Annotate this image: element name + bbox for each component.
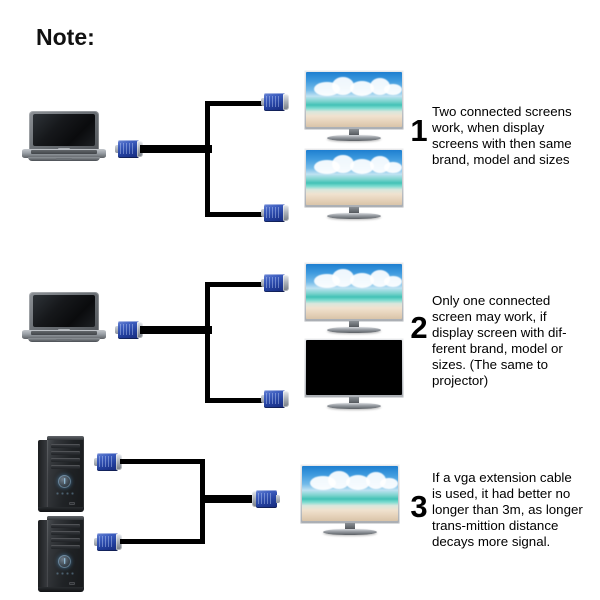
- monitor-icon: [304, 262, 404, 334]
- note-number: 2: [406, 312, 432, 343]
- tower-drive-bay: [51, 538, 80, 542]
- vga-shield: [283, 275, 289, 291]
- vga-connector-icon: [94, 453, 122, 471]
- tower-drive-bay: [51, 458, 80, 462]
- laptop-keyboard: [31, 150, 97, 154]
- cable-icon: [205, 101, 265, 106]
- cable-icon: [140, 326, 212, 334]
- tower-drive-bay: [51, 524, 80, 528]
- vga-connector-icon: [94, 533, 122, 551]
- note-block-1: 1 Two connected screens work, when displ…: [406, 104, 584, 168]
- tower-indicator: [69, 582, 75, 585]
- tower-drive-bay: [51, 465, 80, 469]
- cable-icon: [205, 101, 210, 217]
- cable-icon: [205, 398, 265, 403]
- monitor-screen: [306, 264, 402, 319]
- tower-base: [38, 507, 84, 512]
- tower-drive-bay: [51, 531, 80, 535]
- vga-body: [118, 321, 139, 339]
- vga-body: [264, 390, 285, 408]
- vga-body: [264, 274, 285, 292]
- laptop-screen: [33, 114, 95, 146]
- monitor-bezel: [304, 70, 404, 130]
- note-text: If a vga extension cable is used, it had…: [432, 470, 584, 550]
- vga-body: [264, 93, 285, 111]
- tower-top: [47, 436, 84, 440]
- monitor-icon: [304, 338, 404, 410]
- note-number: 3: [406, 491, 432, 522]
- tower-drive-bay: [51, 451, 80, 455]
- monitor-stand: [327, 327, 381, 333]
- vga-shield: [283, 391, 289, 407]
- monitor-stand: [327, 135, 381, 141]
- cable-icon: [205, 282, 210, 403]
- vga-connector-icon: [115, 140, 143, 158]
- vga-latch: [276, 495, 280, 503]
- vga-connector-icon: [261, 204, 289, 222]
- vga-body: [256, 490, 277, 508]
- cable-icon: [140, 145, 212, 153]
- page-title: Note:: [36, 24, 95, 51]
- power-button-icon[interactable]: [58, 475, 71, 488]
- vga-connector-icon: [261, 390, 289, 408]
- tower-vent: [55, 491, 75, 497]
- note-block-2: 2 Only one connected screen may work, if…: [406, 293, 584, 389]
- laptop-screen: [33, 295, 95, 327]
- tower-base: [38, 587, 84, 592]
- power-button-icon[interactable]: [58, 555, 71, 568]
- laptop-icon: [22, 292, 106, 344]
- note-number: 1: [406, 115, 432, 146]
- monitor-icon: [300, 464, 400, 536]
- desktop-tower-icon: [38, 436, 84, 512]
- vga-connector-icon: [261, 274, 289, 292]
- tower-drive-bay: [51, 444, 80, 448]
- vga-shield: [283, 205, 289, 221]
- note-text: Only one connected screen may work, if d…: [432, 293, 584, 389]
- vga-body: [118, 140, 139, 158]
- vga-connector-icon: [261, 93, 289, 111]
- laptop-lid: [29, 292, 99, 332]
- monitor-screen: [306, 72, 402, 127]
- monitor-bezel: [304, 262, 404, 322]
- monitor-screen: [302, 466, 398, 521]
- laptop-lid: [29, 111, 99, 151]
- tower-drive-bay: [51, 545, 80, 549]
- monitor-bezel: [300, 464, 400, 524]
- laptop-keyboard: [31, 331, 97, 335]
- desktop-tower-icon: [38, 516, 84, 592]
- laptop-icon: [22, 111, 106, 163]
- monitor-bezel: [304, 338, 404, 398]
- laptop-touchpad: [56, 339, 72, 341]
- vga-connector-icon: [115, 321, 143, 339]
- vga-body: [97, 533, 118, 551]
- laptop-touchpad: [56, 158, 72, 160]
- note-block-3: 3 If a vga extension cable is used, it h…: [406, 470, 584, 550]
- cable-icon: [205, 212, 265, 217]
- monitor-screen: [306, 150, 402, 205]
- vga-shield: [283, 94, 289, 110]
- monitor-bezel: [304, 148, 404, 208]
- monitor-stand: [327, 403, 381, 409]
- cable-icon: [120, 459, 205, 464]
- cable-icon: [120, 539, 205, 544]
- monitor-screen-off: [306, 340, 402, 395]
- monitor-icon: [304, 148, 404, 220]
- tower-indicator: [69, 502, 75, 505]
- tower-vent: [55, 571, 75, 577]
- cable-icon: [200, 495, 256, 503]
- cable-icon: [205, 282, 265, 287]
- vga-connector-icon: [252, 490, 280, 508]
- monitor-stand: [323, 529, 377, 535]
- monitor-stand: [327, 213, 381, 219]
- vga-body: [264, 204, 285, 222]
- vga-body: [97, 453, 118, 471]
- tower-top: [47, 516, 84, 520]
- note-diagram-page: Note:: [0, 0, 600, 600]
- note-text: Two connected screens work, when display…: [432, 104, 584, 168]
- monitor-icon: [304, 70, 404, 142]
